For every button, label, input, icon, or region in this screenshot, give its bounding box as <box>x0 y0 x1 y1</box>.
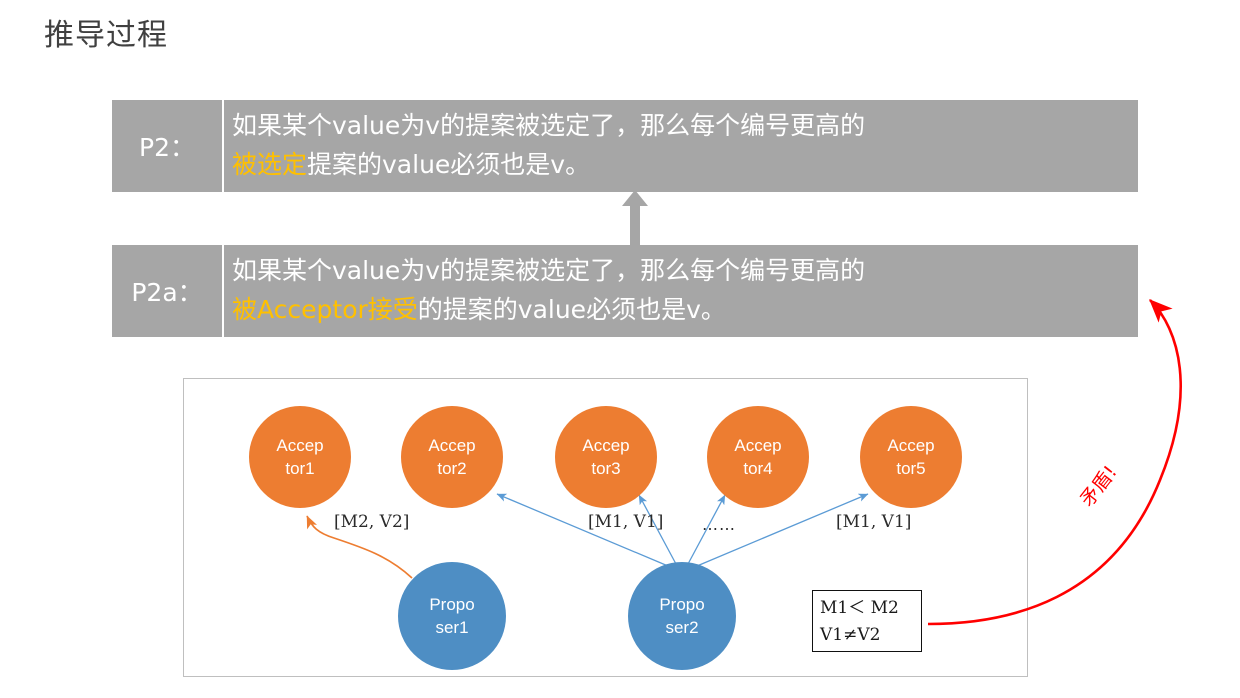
node-proposer1-line1: Propo <box>429 593 474 616</box>
message-label-ellipsis: …… <box>702 515 736 534</box>
node-acceptor4-line1: Accep <box>734 434 781 457</box>
proposition-row-p2a: P2a： 如果某个value为v的提案被选定了，那么每个编号更高的 被Accep… <box>112 245 1138 337</box>
node-acceptor2-line1: Accep <box>428 434 475 457</box>
node-proposer1-line2: ser1 <box>435 616 468 639</box>
note-line-v1-neq-v2: V1≠V2 <box>820 622 921 649</box>
proposition-p2-highlight: 被选定 <box>232 150 307 179</box>
proposition-p2a-highlight: 被Acceptor接受 <box>232 295 418 324</box>
node-proposer2-line1: Propo <box>659 593 704 616</box>
node-acceptor2[interactable]: Accep tor2 <box>401 406 503 508</box>
node-acceptor5-line2: tor5 <box>896 457 925 480</box>
proposition-tag-p2: P2： <box>112 100 222 192</box>
proposition-p2-line1: 如果某个value为v的提案被选定了，那么每个编号更高的 <box>232 106 1138 145</box>
node-acceptor1-line2: tor1 <box>285 457 314 480</box>
proposition-p2a-line2: 被Acceptor接受的提案的value必须也是v。 <box>232 290 1138 329</box>
node-acceptor2-line2: tor2 <box>437 457 466 480</box>
contradiction-label: 矛盾! <box>1073 459 1122 512</box>
node-proposer2-line2: ser2 <box>665 616 698 639</box>
proposition-body-p2a: 如果某个value为v的提案被选定了，那么每个编号更高的 被Acceptor接受… <box>222 245 1138 337</box>
proposition-p2-line2: 被选定提案的value必须也是v。 <box>232 145 1138 184</box>
proposition-p2-line2-rest: 提案的value必须也是v。 <box>307 150 590 179</box>
implication-up-arrow-icon <box>620 190 650 248</box>
node-acceptor5-line1: Accep <box>887 434 934 457</box>
proposition-body-p2: 如果某个value为v的提案被选定了，那么每个编号更高的 被选定提案的value… <box>222 100 1138 192</box>
proposition-p2a-line2-rest: 的提案的value必须也是v。 <box>418 295 726 324</box>
note-box-inequalities: M1＜ M2 V1≠V2 <box>812 590 922 652</box>
page-title: 推导过程 <box>44 18 168 54</box>
message-label-m2v2: [M2, V2] <box>334 512 409 532</box>
note-line-m1-lt-m2: M1＜ M2 <box>820 595 921 622</box>
message-label-m1v1-left: [M1, V1] <box>588 512 663 532</box>
node-acceptor4-line2: tor4 <box>743 457 772 480</box>
node-proposer1[interactable]: Propo ser1 <box>398 562 506 670</box>
node-acceptor1[interactable]: Accep tor1 <box>249 406 351 508</box>
proposition-row-p2: P2： 如果某个value为v的提案被选定了，那么每个编号更高的 被选定提案的v… <box>112 100 1138 192</box>
proposition-p2a-line1: 如果某个value为v的提案被选定了，那么每个编号更高的 <box>232 251 1138 290</box>
node-proposer2[interactable]: Propo ser2 <box>628 562 736 670</box>
node-acceptor3[interactable]: Accep tor3 <box>555 406 657 508</box>
node-acceptor1-line1: Accep <box>276 434 323 457</box>
node-acceptor5[interactable]: Accep tor5 <box>860 406 962 508</box>
node-acceptor3-line1: Accep <box>582 434 629 457</box>
proposition-tag-p2a: P2a： <box>112 245 222 337</box>
message-label-m1v1-right: [M1, V1] <box>836 512 911 532</box>
node-acceptor3-line2: tor3 <box>591 457 620 480</box>
node-acceptor4[interactable]: Accep tor4 <box>707 406 809 508</box>
